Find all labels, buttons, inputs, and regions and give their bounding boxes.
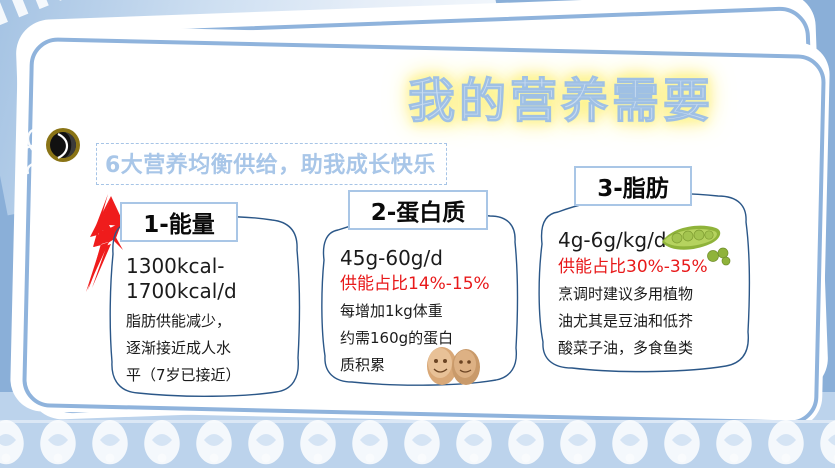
eggs-image bbox=[424, 344, 486, 386]
slide-content: 我的营养需要 6大营养均衡供给，助我成长快乐 1-能量 1300kcal- 17… bbox=[0, 0, 835, 468]
callout-protein-value: 45g-60g/d bbox=[340, 246, 443, 271]
callout-energy-note-line-3: 平（7岁已接近） bbox=[126, 362, 241, 388]
callout-protein-header: 2-蛋白质 bbox=[348, 190, 488, 230]
callout-energy: 1-能量 1300kcal- 1700kcal/d 脂肪供能减少， 逐渐接近成人… bbox=[104, 196, 309, 411]
callout-fat-note-line-2: 油尤其是豆油和低芥 bbox=[558, 308, 693, 334]
ribbon-knot-icon bbox=[18, 98, 108, 188]
callout-energy-value-line-2: 1700kcal/d bbox=[126, 279, 237, 304]
callout-energy-value-line-1: 1300kcal- bbox=[126, 254, 225, 279]
subtitle-text: 6大营养均衡供给，助我成长快乐 bbox=[105, 153, 436, 178]
callout-fat-value: 4g-6g/kg/d bbox=[558, 228, 667, 253]
callout-energy-note-line-2: 逐渐接近成人水 bbox=[126, 335, 231, 361]
callout-protein-ratio: 供能占比14%-15% bbox=[340, 273, 490, 296]
callout-fat-note-line-3: 酸菜子油，多食鱼类 bbox=[558, 335, 693, 361]
callout-energy-header: 1-能量 bbox=[120, 202, 238, 242]
callout-energy-note-line-1: 脂肪供能减少， bbox=[126, 308, 231, 334]
page-title: 我的营养需要 bbox=[408, 62, 714, 131]
callout-protein-note-line-3: 质积累 bbox=[340, 352, 385, 378]
callout-fat-header: 3-脂肪 bbox=[574, 166, 692, 206]
peapod-image bbox=[658, 218, 736, 268]
slide-canvas: 我的营养需要 6大营养均衡供给，助我成长快乐 1-能量 1300kcal- 17… bbox=[0, 0, 835, 468]
callout-protein-note-line-1: 每增加1kg体重 bbox=[340, 298, 443, 324]
subtitle-box: 6大营养均衡供给，助我成长快乐 bbox=[96, 143, 447, 185]
callout-fat: 3-脂肪 4g-6g/kg/d 供能占比30%-35% 烹调时建议多用植物 油尤… bbox=[530, 166, 765, 381]
callout-fat-note-line-1: 烹调时建议多用植物 bbox=[558, 281, 693, 307]
